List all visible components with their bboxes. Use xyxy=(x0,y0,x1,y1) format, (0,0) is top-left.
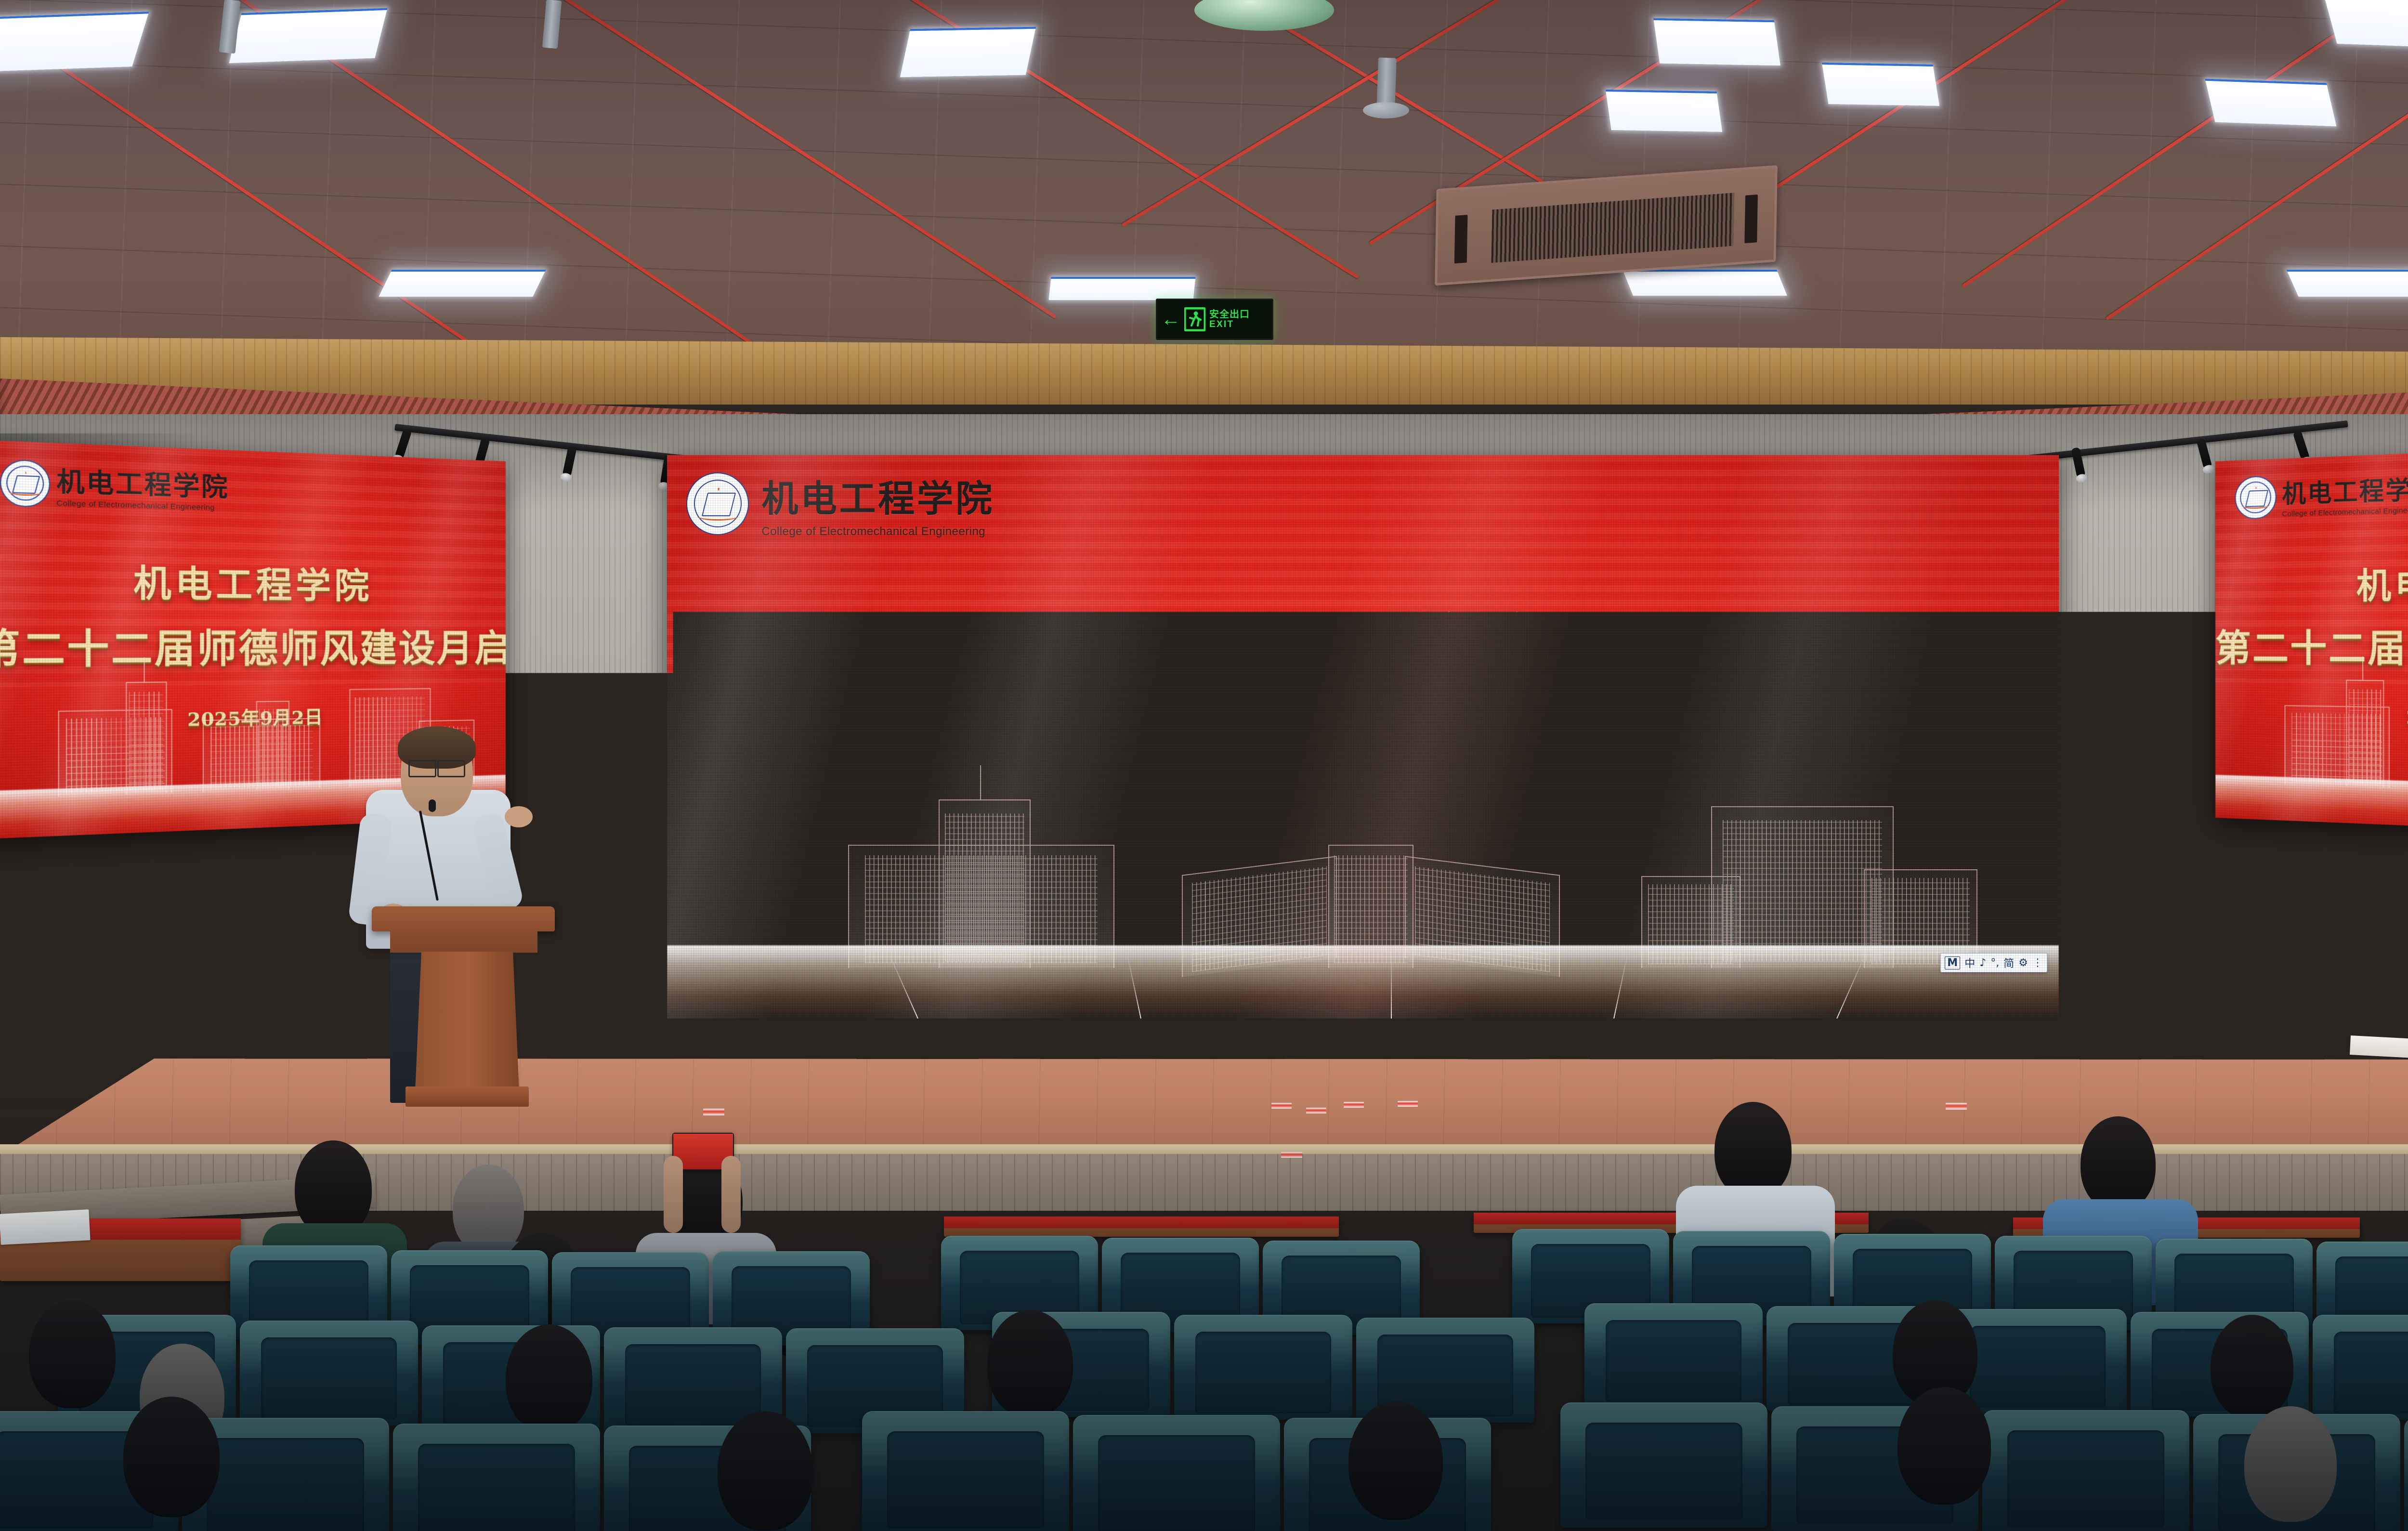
running-man-icon xyxy=(1184,307,1205,331)
gear-icon[interactable]: ⚙ xyxy=(2018,957,2028,969)
building-windows xyxy=(129,692,163,790)
exit-arrow-icon: ← xyxy=(1161,310,1180,329)
podium-base xyxy=(406,1086,529,1107)
audience-head xyxy=(1898,1387,1991,1505)
right-title-line1: 机电工程学院 xyxy=(2215,551,2408,610)
table-document xyxy=(0,1209,91,1245)
main-led-screen: 机电工程学院 College of Electromechanical Engi… xyxy=(667,455,2059,1019)
audience-arm xyxy=(721,1156,741,1233)
building-spire xyxy=(2362,656,2363,680)
left-brand-cn: 机电工程学院 xyxy=(56,461,229,504)
ceiling-light-panel xyxy=(2287,270,2408,297)
college-seal-logo xyxy=(2235,475,2277,520)
right-led-screen: 机电工程学院 College of Electromechanical Engi… xyxy=(2215,439,2408,840)
speaker-glasses xyxy=(437,760,465,777)
main-brand-en: College of Electromechanical Engineering xyxy=(761,525,994,538)
exit-sign-text-en: EXIT xyxy=(1209,320,1250,329)
podium-top xyxy=(372,906,555,931)
left-screen-brand: 机电工程学院 College of Electromechanical Engi… xyxy=(0,457,380,519)
auditorium-seat[interactable] xyxy=(2313,1315,2408,1420)
ceiling-light-panel xyxy=(2205,79,2336,127)
audience-head xyxy=(2211,1315,2293,1419)
floor-marker-tape xyxy=(1306,1108,1326,1113)
ceiling-light-panel xyxy=(1653,18,1780,65)
building-windows xyxy=(1723,820,1882,962)
building-silhouette xyxy=(939,799,1031,968)
building-spire xyxy=(980,765,981,800)
auditorium-seat[interactable] xyxy=(393,1424,600,1531)
audience-head xyxy=(295,1140,372,1237)
auditorium-seat[interactable] xyxy=(1982,1410,2189,1531)
main-title-line1: 机电工程学院 xyxy=(667,596,2059,674)
ime-charset-toggle[interactable]: 简 xyxy=(2003,955,2014,970)
main-screen-glow-floor xyxy=(667,945,2059,1019)
more-options-icon[interactable]: ⋮ xyxy=(2032,957,2043,969)
auditorium-seat[interactable] xyxy=(1560,1402,1767,1528)
main-skyline-art xyxy=(667,793,2059,968)
ac-side-slot xyxy=(1744,195,1758,243)
auditorium-seat[interactable] xyxy=(1073,1415,1280,1531)
building-silhouette xyxy=(126,681,167,795)
ceiling-light-panel xyxy=(1623,270,1787,296)
ac-grille xyxy=(1492,193,1735,263)
table-red-cloth xyxy=(944,1217,1339,1228)
podium-neck xyxy=(390,930,537,953)
auditorium-seat[interactable] xyxy=(240,1321,418,1426)
ime-mode-badge[interactable]: M xyxy=(1945,956,1960,969)
ime-language-toggle[interactable]: 中 xyxy=(1964,955,1975,970)
floor-marker-tape xyxy=(1344,1102,1364,1108)
emergency-exit-sign: ← 安全出口 EXIT xyxy=(1156,299,1273,340)
college-seal-logo xyxy=(0,459,50,508)
floor-marker-tape xyxy=(1281,1152,1302,1158)
ceiling-light-panel xyxy=(2323,0,2408,49)
light-ray xyxy=(1391,946,1392,1019)
right-screen-brand: 机电工程学院 College of Electromechanical Engi… xyxy=(2235,461,2408,522)
ime-toolbar[interactable]: M 中 ♪ °, 简 ⚙ ⋮ xyxy=(1940,953,2047,972)
seal-wave xyxy=(697,512,739,521)
floor-marker-tape xyxy=(1271,1103,1292,1109)
auditorium-seat[interactable] xyxy=(2404,1418,2408,1531)
ceiling-speaker-dome xyxy=(1363,102,1409,118)
auditorium-seat[interactable] xyxy=(862,1411,1069,1531)
ceiling-light-panel xyxy=(379,270,546,297)
audience-head xyxy=(506,1324,592,1432)
ceiling-light-panel xyxy=(1048,277,1195,300)
ime-punctuation-toggle[interactable]: °, xyxy=(1990,957,1999,969)
building-silhouette xyxy=(256,701,290,790)
podium-microphone-head xyxy=(429,799,436,812)
audience-head xyxy=(123,1397,220,1517)
audience-head xyxy=(987,1310,1073,1417)
ceiling-light-panel xyxy=(900,27,1036,78)
audience-head xyxy=(29,1300,116,1408)
right-screen-surface: 机电工程学院 College of Electromechanical Engi… xyxy=(2215,439,2408,840)
college-seal-logo xyxy=(686,472,749,535)
ceiling-light-panel xyxy=(0,12,149,72)
main-screen-brand: 机电工程学院 College of Electromechanical Engi… xyxy=(686,470,1466,537)
audience-head xyxy=(1348,1401,1443,1520)
auditorium-seat[interactable] xyxy=(1584,1303,1763,1408)
ceiling-light-panel xyxy=(1606,90,1722,132)
ceiling-light-panel xyxy=(1822,63,1939,106)
audience-head xyxy=(2244,1406,2337,1522)
audience-head xyxy=(718,1411,813,1531)
audience-arm xyxy=(664,1156,683,1233)
ac-side-slot xyxy=(1454,215,1468,263)
floor-marker-tape xyxy=(1398,1101,1418,1107)
building-windows xyxy=(2349,689,2381,783)
floor-marker-tape xyxy=(703,1109,724,1115)
left-title-line2: 第二十二届师德师风建设月启动仪式 xyxy=(0,616,506,675)
auditorium-seat[interactable] xyxy=(1174,1315,1352,1420)
ime-tone-icon[interactable]: ♪ xyxy=(1979,957,1986,969)
exit-sign-text-cn: 安全出口 xyxy=(1209,310,1250,320)
ceiling-light-panel xyxy=(229,8,388,63)
left-title-line1: 机电工程学院 xyxy=(0,551,506,610)
speaker-right-hand xyxy=(505,806,533,827)
audience-head xyxy=(453,1165,524,1254)
auditorium-photo: ← 安全出口 EXIT 机电工程学院 College xyxy=(0,0,2408,1531)
building-silhouette xyxy=(2346,680,2384,787)
audience-head xyxy=(2081,1116,2156,1211)
speaker-glasses xyxy=(408,760,436,777)
main-screen-surface: 机电工程学院 College of Electromechanical Engi… xyxy=(667,455,2059,1019)
main-brand-cn: 机电工程学院 xyxy=(761,469,994,522)
right-title-line2: 第二十二届师德师风建设月启动仪式 xyxy=(2215,616,2408,676)
right-brand-cn: 机电工程学院 xyxy=(2282,469,2408,510)
building-windows xyxy=(259,709,287,787)
audience-head xyxy=(1714,1102,1792,1198)
building-windows xyxy=(945,813,1024,961)
floor-marker-tape xyxy=(1946,1103,1967,1110)
stage-front-lip xyxy=(0,1144,2408,1155)
building-spire xyxy=(144,657,144,683)
podium-body xyxy=(415,952,519,1091)
main-title-line2: 第二十二届师德师风建设月启动仪式 xyxy=(667,688,2059,774)
